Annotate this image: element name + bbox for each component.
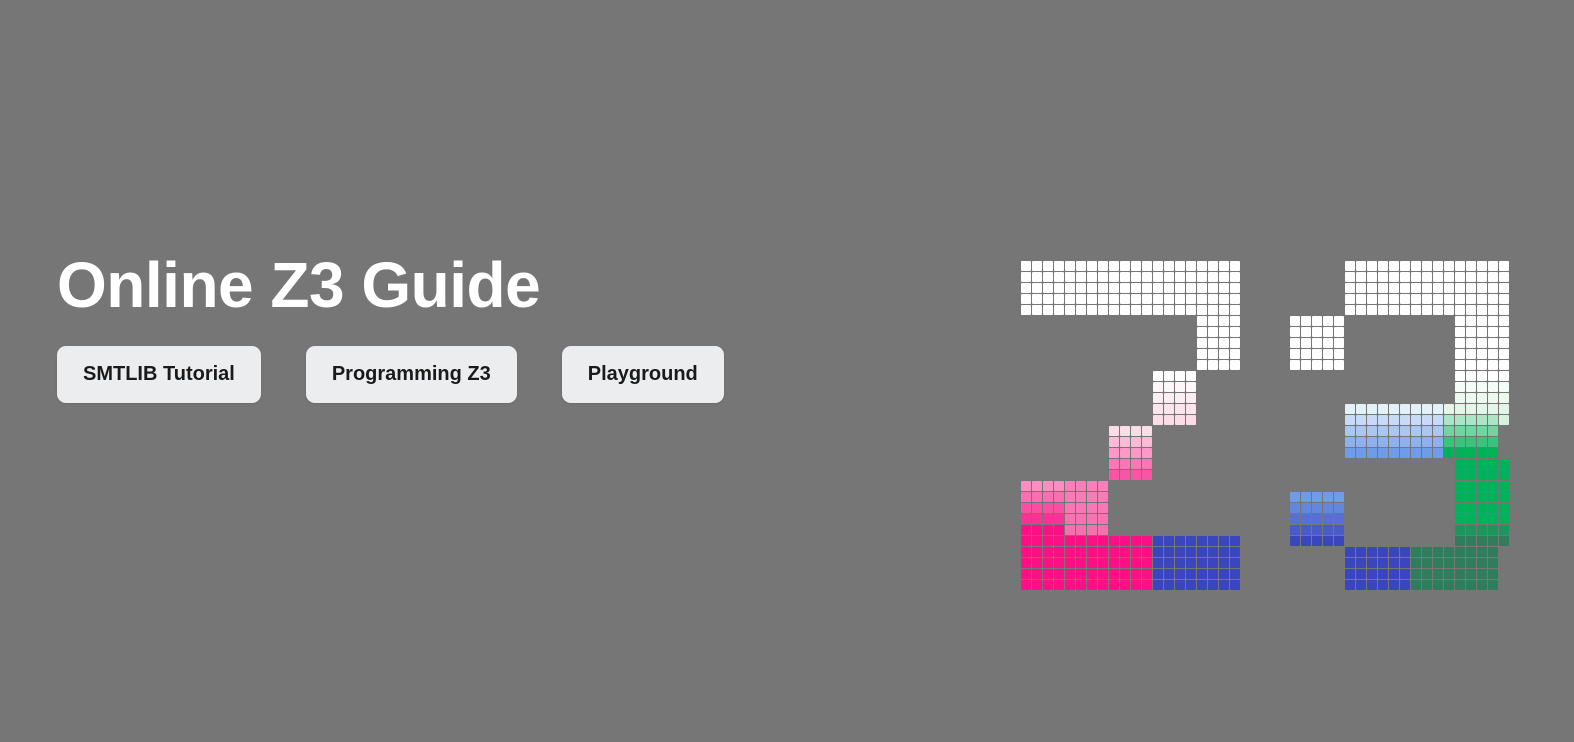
logo-pixel <box>1032 569 1042 579</box>
logo-pixel <box>1153 558 1163 568</box>
logo-pixel <box>1142 437 1152 447</box>
logo-pixel <box>1109 470 1119 480</box>
hero-text-column: Online Z3 Guide SMTLIB Tutorial Programm… <box>57 252 957 403</box>
logo-pixel <box>1087 481 1097 491</box>
logo-pixel <box>1400 283 1410 293</box>
logo-pixel <box>1131 437 1141 447</box>
logo-pixel <box>1488 569 1498 579</box>
logo-pixel <box>1312 503 1322 513</box>
logo-pixel <box>1345 294 1355 304</box>
logo-pixel <box>1197 283 1207 293</box>
logo-pixel <box>1334 360 1344 370</box>
logo-pixel <box>1065 294 1075 304</box>
logo-pixel <box>1230 338 1240 348</box>
logo-pixel <box>1367 305 1377 315</box>
logo-pixel <box>1043 503 1053 513</box>
logo-pixel <box>1131 547 1141 557</box>
logo-pixel <box>1334 316 1344 326</box>
logo-pixel <box>1120 459 1130 469</box>
logo-pixel <box>1323 349 1333 359</box>
logo-pixel <box>1230 327 1240 337</box>
logo-pixel <box>1153 404 1163 414</box>
logo-pixel <box>1109 261 1119 271</box>
logo-pixel <box>1087 272 1097 282</box>
logo-pixel <box>1219 272 1229 282</box>
logo-pixel <box>1131 294 1141 304</box>
logo-pixel <box>1488 338 1498 348</box>
logo-pixel <box>1356 272 1366 282</box>
logo-pixel <box>1488 514 1498 524</box>
logo-pixel <box>1466 492 1476 502</box>
logo-pixel <box>1488 448 1498 458</box>
logo-pixel <box>1499 492 1509 502</box>
logo-pixel <box>1230 261 1240 271</box>
logo-pixel <box>1400 261 1410 271</box>
logo-pixel <box>1301 338 1311 348</box>
logo-pixel <box>1411 426 1421 436</box>
logo-pixel <box>1312 327 1322 337</box>
logo-pixel <box>1433 558 1443 568</box>
logo-pixel <box>1164 536 1174 546</box>
logo-pixel <box>1477 580 1487 590</box>
logo-pixel <box>1109 448 1119 458</box>
logo-pixel <box>1334 327 1344 337</box>
logo-pixel <box>1499 316 1509 326</box>
logo-pixel <box>1488 360 1498 370</box>
logo-pixel <box>1230 569 1240 579</box>
logo-pixel <box>1466 360 1476 370</box>
logo-pixel <box>1142 294 1152 304</box>
logo-pixel <box>1488 349 1498 359</box>
logo-pixel <box>1197 338 1207 348</box>
logo-pixel <box>1345 305 1355 315</box>
logo-pixel <box>1109 294 1119 304</box>
logo-pixel <box>1466 580 1476 590</box>
logo-pixel <box>1021 503 1031 513</box>
logo-pixel <box>1098 547 1108 557</box>
logo-pixel <box>1477 536 1487 546</box>
logo-pixel <box>1197 272 1207 282</box>
logo-pixel <box>1455 261 1465 271</box>
logo-pixel <box>1455 448 1465 458</box>
logo-pixel <box>1301 349 1311 359</box>
logo-pixel <box>1175 415 1185 425</box>
logo-pixel <box>1065 305 1075 315</box>
logo-pixel <box>1186 272 1196 282</box>
logo-pixel <box>1153 305 1163 315</box>
logo-pixel <box>1488 580 1498 590</box>
logo-pixel <box>1455 371 1465 381</box>
logo-pixel <box>1400 580 1410 590</box>
logo-pixel <box>1367 272 1377 282</box>
logo-pixel <box>1400 569 1410 579</box>
logo-pixel <box>1356 558 1366 568</box>
logo-pixel <box>1208 305 1218 315</box>
logo-pixel <box>1054 547 1064 557</box>
logo-pixel <box>1400 305 1410 315</box>
logo-pixel <box>1499 283 1509 293</box>
logo-pixel <box>1098 525 1108 535</box>
logo-pixel <box>1378 261 1388 271</box>
logo-pixel <box>1477 283 1487 293</box>
logo-pixel <box>1175 569 1185 579</box>
logo-pixel <box>1378 305 1388 315</box>
logo-pixel <box>1488 503 1498 513</box>
logo-pixel <box>1197 360 1207 370</box>
logo-pixel <box>1378 580 1388 590</box>
logo-pixel <box>1032 294 1042 304</box>
logo-pixel <box>1466 481 1476 491</box>
logo-pixel <box>1087 525 1097 535</box>
logo-pixel <box>1186 415 1196 425</box>
logo-pixel <box>1219 547 1229 557</box>
logo-pixel <box>1466 437 1476 447</box>
logo-pixel <box>1499 294 1509 304</box>
logo-pixel <box>1367 558 1377 568</box>
logo-pixel <box>1323 536 1333 546</box>
logo-pixel <box>1422 569 1432 579</box>
logo-pixel <box>1455 470 1465 480</box>
logo-pixel <box>1142 261 1152 271</box>
logo-pixel <box>1153 294 1163 304</box>
logo-pixel <box>1032 272 1042 282</box>
logo-pixel <box>1411 404 1421 414</box>
logo-pixel <box>1131 569 1141 579</box>
logo-pixel <box>1054 283 1064 293</box>
logo-pixel <box>1367 415 1377 425</box>
logo-pixel <box>1131 448 1141 458</box>
logo-pixel <box>1433 580 1443 590</box>
logo-pixel <box>1186 558 1196 568</box>
logo-pixel <box>1164 382 1174 392</box>
logo-pixel <box>1411 448 1421 458</box>
logo-pixel <box>1120 448 1130 458</box>
logo-pixel <box>1488 283 1498 293</box>
logo-pixel <box>1043 305 1053 315</box>
logo-pixel <box>1197 569 1207 579</box>
logo-pixel <box>1043 481 1053 491</box>
logo-pixel <box>1433 261 1443 271</box>
logo-pixel <box>1301 503 1311 513</box>
logo-pixel <box>1120 470 1130 480</box>
logo-pixel <box>1153 371 1163 381</box>
logo-pixel <box>1400 437 1410 447</box>
logo-pixel <box>1422 426 1432 436</box>
logo-pixel <box>1186 569 1196 579</box>
logo-pixel <box>1230 360 1240 370</box>
logo-pixel <box>1378 283 1388 293</box>
logo-pixel <box>1499 536 1509 546</box>
logo-pixel <box>1444 569 1454 579</box>
logo-pixel <box>1455 514 1465 524</box>
logo-pixel <box>1477 327 1487 337</box>
logo-pixel <box>1109 437 1119 447</box>
logo-pixel <box>1186 305 1196 315</box>
logo-pixel <box>1444 415 1454 425</box>
logo-pixel <box>1367 569 1377 579</box>
logo-pixel <box>1021 261 1031 271</box>
logo-pixel <box>1164 305 1174 315</box>
logo-pixel <box>1153 536 1163 546</box>
logo-pixel <box>1411 294 1421 304</box>
logo-pixel <box>1499 261 1509 271</box>
logo-pixel <box>1488 492 1498 502</box>
logo-pixel <box>1065 558 1075 568</box>
logo-pixel <box>1175 261 1185 271</box>
logo-pixel <box>1411 415 1421 425</box>
logo-pixel <box>1197 316 1207 326</box>
logo-pixel <box>1466 404 1476 414</box>
logo-pixel <box>1043 514 1053 524</box>
logo-pixel <box>1488 393 1498 403</box>
logo-pixel <box>1164 283 1174 293</box>
logo-pixel <box>1032 547 1042 557</box>
logo-pixel <box>1153 382 1163 392</box>
logo-pixel <box>1032 283 1042 293</box>
logo-pixel <box>1054 558 1064 568</box>
logo-pixel <box>1378 404 1388 414</box>
logo-pixel <box>1312 525 1322 535</box>
logo-pixel <box>1065 261 1075 271</box>
logo-pixel <box>1043 580 1053 590</box>
logo-pixel <box>1356 415 1366 425</box>
hero-section: Online Z3 Guide SMTLIB Tutorial Programm… <box>0 0 1574 742</box>
logo-pixel <box>1175 272 1185 282</box>
logo-pixel <box>1477 316 1487 326</box>
logo-pixel <box>1499 327 1509 337</box>
logo-pixel <box>1164 404 1174 414</box>
logo-pixel <box>1043 283 1053 293</box>
logo-glyph-three <box>1290 261 1517 581</box>
logo-pixel <box>1389 294 1399 304</box>
logo-pixel <box>1378 448 1388 458</box>
logo-pixel <box>1389 569 1399 579</box>
logo-pixel <box>1175 580 1185 590</box>
logo-pixel <box>1120 426 1130 436</box>
logo-pixel <box>1411 558 1421 568</box>
logo-pixel <box>1290 503 1300 513</box>
logo-pixel <box>1065 536 1075 546</box>
logo-pixel <box>1186 382 1196 392</box>
logo-pixel <box>1411 283 1421 293</box>
logo-pixel <box>1219 294 1229 304</box>
logo-pixel <box>1499 371 1509 381</box>
logo-pixel <box>1422 547 1432 557</box>
logo-pixel <box>1290 514 1300 524</box>
logo-pixel <box>1087 580 1097 590</box>
logo-pixel <box>1488 470 1498 480</box>
logo-pixel <box>1323 503 1333 513</box>
logo-pixel <box>1422 580 1432 590</box>
playground-button[interactable]: Playground <box>562 346 724 403</box>
logo-pixel <box>1142 569 1152 579</box>
logo-pixel <box>1120 569 1130 579</box>
logo-pixel <box>1312 360 1322 370</box>
logo-pixel <box>1466 536 1476 546</box>
logo-pixel <box>1499 338 1509 348</box>
logo-pixel <box>1488 415 1498 425</box>
z3-pixel-logo <box>1015 255 1520 590</box>
logo-pixel <box>1433 404 1443 414</box>
logo-pixel <box>1142 272 1152 282</box>
logo-pixel <box>1323 525 1333 535</box>
logo-pixel <box>1444 437 1454 447</box>
logo-pixel <box>1164 569 1174 579</box>
logo-pixel <box>1153 415 1163 425</box>
logo-pixel <box>1455 349 1465 359</box>
logo-pixel <box>1488 382 1498 392</box>
logo-pixel <box>1032 525 1042 535</box>
logo-pixel <box>1488 437 1498 447</box>
logo-pixel <box>1054 514 1064 524</box>
logo-pixel <box>1087 547 1097 557</box>
logo-pixel <box>1186 283 1196 293</box>
logo-pixel <box>1043 547 1053 557</box>
logo-pixel <box>1230 349 1240 359</box>
logo-pixel <box>1466 547 1476 557</box>
logo-pixel <box>1466 305 1476 315</box>
logo-pixel <box>1488 536 1498 546</box>
logo-pixel <box>1164 272 1174 282</box>
logo-pixel <box>1197 261 1207 271</box>
logo-pixel <box>1389 404 1399 414</box>
logo-pixel <box>1400 547 1410 557</box>
logo-pixel <box>1477 470 1487 480</box>
logo-pixel <box>1466 525 1476 535</box>
logo-pixel <box>1131 261 1141 271</box>
logo-pixel <box>1065 492 1075 502</box>
logo-pixel <box>1488 525 1498 535</box>
logo-pixel <box>1455 536 1465 546</box>
logo-pixel <box>1345 569 1355 579</box>
logo-pixel <box>1186 261 1196 271</box>
logo-pixel <box>1087 514 1097 524</box>
logo-pixel <box>1400 448 1410 458</box>
logo-pixel <box>1032 503 1042 513</box>
programming-z3-button[interactable]: Programming Z3 <box>306 346 517 403</box>
logo-pixel <box>1153 547 1163 557</box>
logo-pixel <box>1087 294 1097 304</box>
logo-pixel <box>1367 580 1377 590</box>
logo-pixel <box>1433 415 1443 425</box>
logo-pixel <box>1389 580 1399 590</box>
logo-pixel <box>1021 283 1031 293</box>
logo-pixel <box>1065 547 1075 557</box>
logo-pixel <box>1477 360 1487 370</box>
logo-pixel <box>1153 393 1163 403</box>
logo-pixel <box>1021 481 1031 491</box>
logo-pixel <box>1131 272 1141 282</box>
logo-pixel <box>1043 569 1053 579</box>
logo-pixel <box>1477 525 1487 535</box>
logo-pixel <box>1455 338 1465 348</box>
logo-pixel <box>1098 305 1108 315</box>
logo-pixel <box>1455 316 1465 326</box>
logo-pixel <box>1466 349 1476 359</box>
logo-pixel <box>1444 426 1454 436</box>
logo-pixel <box>1466 569 1476 579</box>
logo-pixel <box>1175 283 1185 293</box>
logo-pixel <box>1488 547 1498 557</box>
logo-pixel <box>1054 525 1064 535</box>
logo-pixel <box>1197 349 1207 359</box>
logo-pixel <box>1499 503 1509 513</box>
logo-pixel <box>1334 514 1344 524</box>
logo-pixel <box>1120 558 1130 568</box>
logo-pixel <box>1219 360 1229 370</box>
logo-pixel <box>1466 272 1476 282</box>
logo-pixel <box>1455 481 1465 491</box>
logo-pixel <box>1032 492 1042 502</box>
logo-pixel <box>1197 294 1207 304</box>
logo-pixel <box>1499 305 1509 315</box>
logo-pixel <box>1378 426 1388 436</box>
logo-pixel <box>1389 415 1399 425</box>
logo-pixel <box>1400 426 1410 436</box>
logo-pixel <box>1175 536 1185 546</box>
logo-pixel <box>1175 305 1185 315</box>
smtlib-tutorial-button[interactable]: SMTLIB Tutorial <box>57 346 261 403</box>
logo-pixel <box>1444 294 1454 304</box>
logo-pixel <box>1065 525 1075 535</box>
logo-pixel <box>1087 492 1097 502</box>
logo-pixel <box>1367 437 1377 447</box>
logo-pixel <box>1219 580 1229 590</box>
logo-pixel <box>1411 569 1421 579</box>
logo-pixel <box>1323 316 1333 326</box>
logo-pixel <box>1087 558 1097 568</box>
logo-pixel <box>1290 492 1300 502</box>
logo-pixel <box>1400 415 1410 425</box>
logo-pixel <box>1197 580 1207 590</box>
logo-pixel <box>1208 272 1218 282</box>
logo-pixel <box>1043 492 1053 502</box>
logo-pixel <box>1142 305 1152 315</box>
logo-pixel <box>1208 283 1218 293</box>
logo-pixel <box>1021 492 1031 502</box>
logo-pixel <box>1433 569 1443 579</box>
logo-pixel <box>1422 415 1432 425</box>
logo-pixel <box>1021 305 1031 315</box>
logo-pixel <box>1477 338 1487 348</box>
logo-pixel <box>1142 459 1152 469</box>
logo-pixel <box>1488 426 1498 436</box>
logo-pixel <box>1499 393 1509 403</box>
logo-pixel <box>1186 536 1196 546</box>
logo-pixel <box>1065 514 1075 524</box>
logo-pixel <box>1164 580 1174 590</box>
logo-pixel <box>1098 569 1108 579</box>
logo-pixel <box>1422 294 1432 304</box>
logo-pixel <box>1087 261 1097 271</box>
logo-pixel <box>1334 492 1344 502</box>
logo-pixel <box>1065 283 1075 293</box>
logo-pixel <box>1219 316 1229 326</box>
logo-pixel <box>1334 349 1344 359</box>
logo-pixel <box>1219 305 1229 315</box>
logo-pixel <box>1422 272 1432 282</box>
logo-pixel <box>1334 338 1344 348</box>
logo-pixel <box>1312 514 1322 524</box>
logo-pixel <box>1455 382 1465 392</box>
logo-pixel <box>1065 481 1075 491</box>
logo-pixel <box>1444 272 1454 282</box>
logo-pixel <box>1065 503 1075 513</box>
logo-pixel <box>1197 547 1207 557</box>
logo-pixel <box>1131 305 1141 315</box>
logo-pixel <box>1466 448 1476 458</box>
logo-pixel <box>1131 459 1141 469</box>
